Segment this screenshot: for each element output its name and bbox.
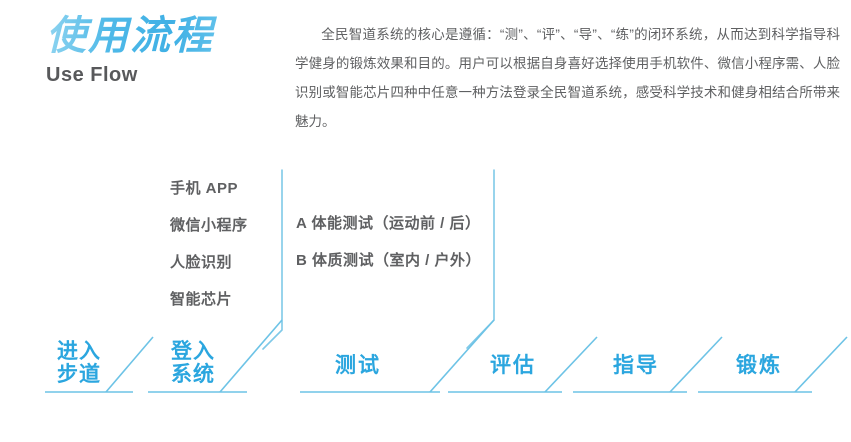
list-item: 手机 APP bbox=[170, 170, 275, 207]
flow-step-4-line1: 评估 bbox=[477, 354, 549, 377]
list-item: B 体质测试（室内 / 户外） bbox=[296, 242, 496, 279]
flow-step-5-line1: 指导 bbox=[600, 354, 672, 377]
page-subtitle: Use Flow bbox=[46, 64, 296, 87]
flow-step-4[interactable]: 评估 bbox=[477, 354, 549, 377]
flow-step-3[interactable]: 测试 bbox=[322, 354, 394, 377]
flow-step-5[interactable]: 指导 bbox=[600, 354, 672, 377]
flow-step-1[interactable]: 进入 步道 bbox=[44, 340, 114, 386]
title-block: 使用流程 Use Flow bbox=[46, 14, 296, 87]
flow-step-1-line2: 步道 bbox=[44, 363, 114, 386]
list-item: 人脸识别 bbox=[170, 244, 275, 281]
list-item: 微信小程序 bbox=[170, 207, 275, 244]
flow-step-6[interactable]: 锻炼 bbox=[723, 354, 795, 377]
list-item: A 体能测试（运动前 / 后） bbox=[296, 205, 496, 242]
flow-step-1-line1: 进入 bbox=[44, 340, 114, 363]
use-flow-infographic: 使用流程 Use Flow 全民智道系统的核心是遵循：“测”、“评”、“导”、“… bbox=[0, 0, 851, 442]
flow-bar: 进入 步道 登入 系统 测试 评估 指导 锻炼 bbox=[0, 318, 851, 398]
list-item: 智能芯片 bbox=[170, 281, 275, 318]
page-title: 使用流程 bbox=[46, 14, 296, 58]
flow-step-6-line1: 锻炼 bbox=[723, 354, 795, 377]
intro-paragraph: 全民智道系统的核心是遵循：“测”、“评”、“导”、“练”的闭环系统，从而达到科学… bbox=[295, 20, 840, 136]
flow-step-2-line1: 登入 bbox=[158, 340, 228, 363]
test-types-list: A 体能测试（运动前 / 后） B 体质测试（室内 / 户外） bbox=[296, 205, 496, 279]
paragraph-text: 全民智道系统的核心是遵循：“测”、“评”、“导”、“练”的闭环系统，从而达到科学… bbox=[295, 27, 840, 129]
flow-step-2[interactable]: 登入 系统 bbox=[158, 340, 228, 386]
flow-step-2-line2: 系统 bbox=[158, 363, 228, 386]
flow-step-3-line1: 测试 bbox=[322, 354, 394, 377]
login-methods-list: 手机 APP 微信小程序 人脸识别 智能芯片 bbox=[170, 170, 275, 318]
